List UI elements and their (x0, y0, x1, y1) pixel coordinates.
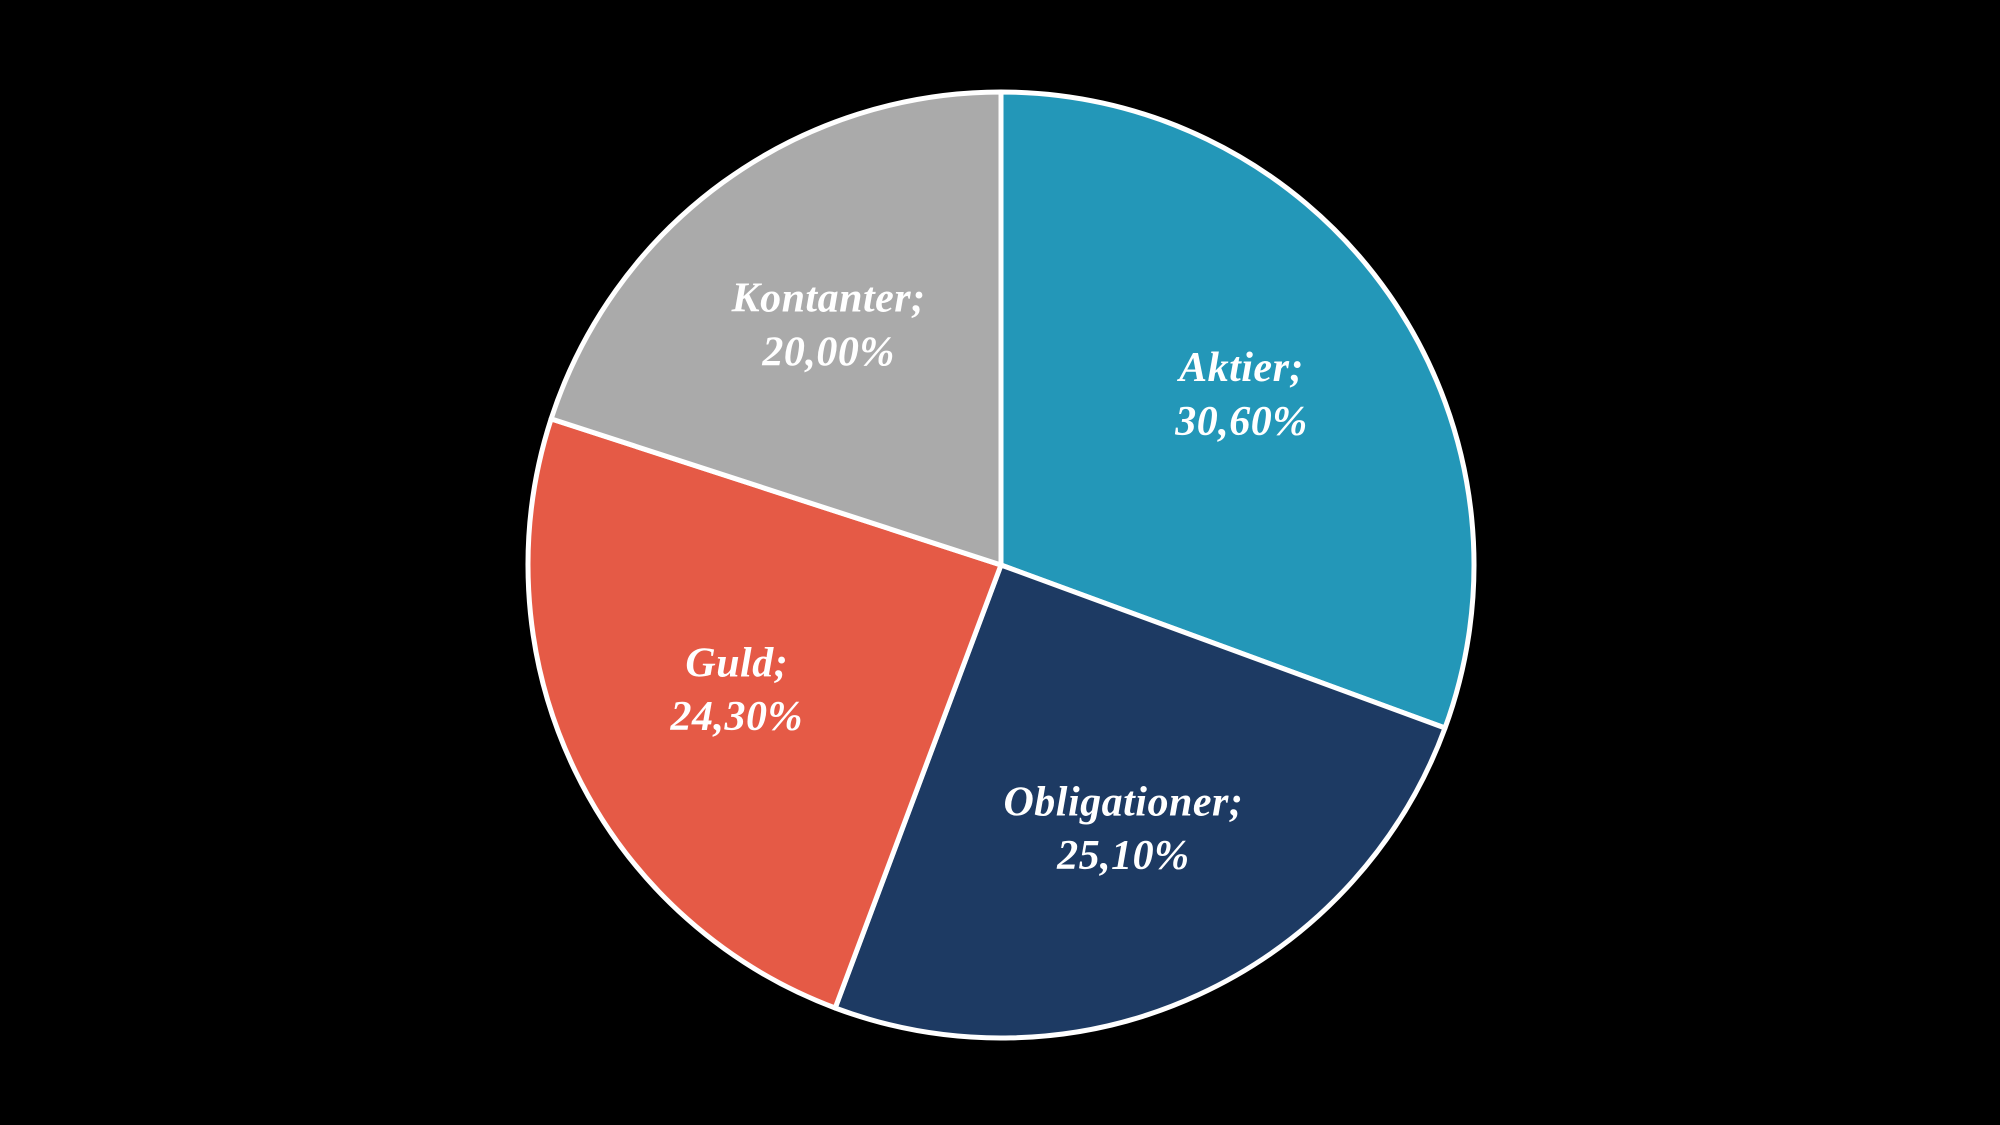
pie-slices-group (528, 92, 1474, 1038)
pie-chart-svg: Aktier;30,60%Obligationer;25,10%Guld;24,… (0, 0, 2000, 1125)
pie-label-value: 30,60% (1174, 398, 1308, 444)
pie-label-name: Guld; (685, 640, 788, 686)
pie-chart-container: Aktier;30,60%Obligationer;25,10%Guld;24,… (0, 0, 2000, 1125)
pie-label-name: Obligationer; (1003, 779, 1243, 825)
pie-label-value: 24,30% (670, 694, 804, 740)
pie-label-value: 20,00% (761, 329, 895, 375)
pie-label-name: Kontanter; (731, 275, 926, 321)
pie-label-value: 25,10% (1056, 833, 1190, 879)
pie-label-name: Aktier; (1176, 345, 1304, 391)
